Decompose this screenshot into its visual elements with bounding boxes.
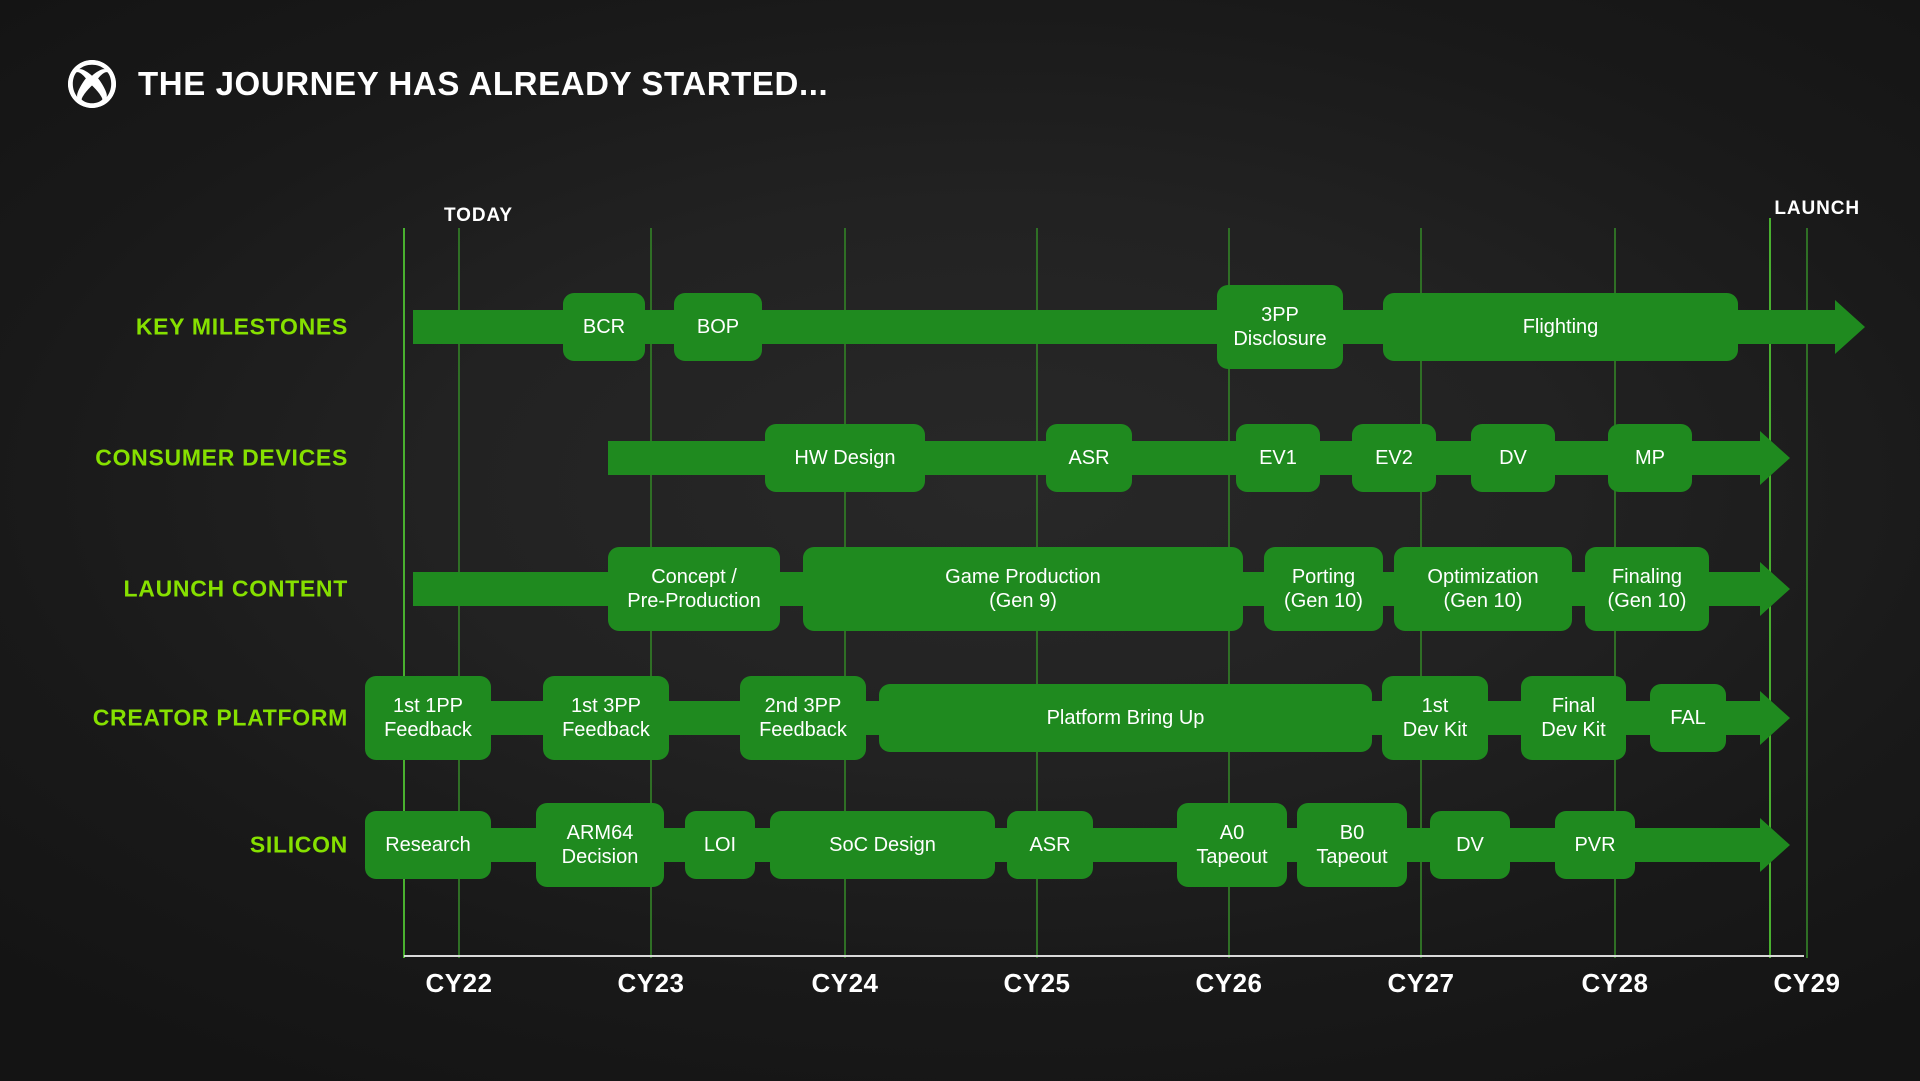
axis-tick-cy26: CY26 bbox=[1195, 968, 1262, 999]
timeline-bar[interactable]: 1st 3PP Feedback bbox=[543, 676, 669, 760]
row-label-launch-content: LAUNCH CONTENT bbox=[124, 576, 348, 603]
timeline-bar[interactable]: 1st Dev Kit bbox=[1382, 676, 1488, 760]
axis-tick-cy22: CY22 bbox=[425, 968, 492, 999]
timeline-bar[interactable]: Research bbox=[365, 811, 491, 879]
axis-tick-cy27: CY27 bbox=[1387, 968, 1454, 999]
row-arrow-creator-platform bbox=[1760, 691, 1790, 745]
timeline-bar[interactable]: HW Design bbox=[765, 424, 925, 492]
timeline-bar[interactable]: Finaling (Gen 10) bbox=[1585, 547, 1709, 631]
timeline-bar[interactable]: Optimization (Gen 10) bbox=[1394, 547, 1572, 631]
axis-tick-cy29: CY29 bbox=[1773, 968, 1840, 999]
timeline-bar[interactable]: Game Production (Gen 9) bbox=[803, 547, 1243, 631]
timeline-bar[interactable]: DV bbox=[1471, 424, 1555, 492]
timeline-bar[interactable]: A0 Tapeout bbox=[1177, 803, 1287, 887]
timeline-bar[interactable]: EV2 bbox=[1352, 424, 1436, 492]
axis-tick-cy25: CY25 bbox=[1003, 968, 1070, 999]
axis-tick-cy28: CY28 bbox=[1581, 968, 1648, 999]
timeline-bar[interactable]: PVR bbox=[1555, 811, 1635, 879]
timeline-bar[interactable]: BOP bbox=[674, 293, 762, 361]
row-arrow-consumer-devices bbox=[1760, 431, 1790, 485]
marker-label-launch: LAUNCH bbox=[1774, 198, 1860, 220]
row-label-key-milestones: KEY MILESTONES bbox=[136, 314, 348, 341]
marker-label-today: TODAY bbox=[444, 205, 513, 227]
timeline-bar[interactable]: ASR bbox=[1046, 424, 1132, 492]
timeline-bar[interactable]: BCR bbox=[563, 293, 645, 361]
timeline-bar[interactable]: SoC Design bbox=[770, 811, 995, 879]
timeline-bar[interactable]: MP bbox=[1608, 424, 1692, 492]
timeline-bar[interactable]: DV bbox=[1430, 811, 1510, 879]
timeline-bar[interactable]: 3PP Disclosure bbox=[1217, 285, 1343, 369]
timeline-bar[interactable]: Platform Bring Up bbox=[879, 684, 1372, 752]
row-label-consumer-devices: CONSUMER DEVICES bbox=[95, 445, 348, 472]
timeline-bar[interactable]: ARM64 Decision bbox=[536, 803, 664, 887]
row-arrow-key-milestones bbox=[1835, 300, 1865, 354]
timeline-bar[interactable]: B0 Tapeout bbox=[1297, 803, 1407, 887]
axis-tick-cy24: CY24 bbox=[811, 968, 878, 999]
timeline-bar[interactable]: Flighting bbox=[1383, 293, 1738, 361]
axis-tick-cy23: CY23 bbox=[617, 968, 684, 999]
row-label-silicon: SILICON bbox=[250, 832, 348, 859]
timeline-bar[interactable]: FAL bbox=[1650, 684, 1726, 752]
timeline-bar[interactable]: 1st 1PP Feedback bbox=[365, 676, 491, 760]
timeline-bar[interactable]: ASR bbox=[1007, 811, 1093, 879]
timeline-bar[interactable]: Final Dev Kit bbox=[1521, 676, 1626, 760]
slide-canvas: THE JOURNEY HAS ALREADY STARTED... TODAY… bbox=[0, 0, 1920, 1081]
timeline-bar[interactable]: 2nd 3PP Feedback bbox=[740, 676, 866, 760]
row-arrow-launch-content bbox=[1760, 562, 1790, 616]
timeline-bar[interactable]: LOI bbox=[685, 811, 755, 879]
row-label-creator-platform: CREATOR PLATFORM bbox=[93, 705, 348, 732]
timeline-bar[interactable]: Concept / Pre-Production bbox=[608, 547, 780, 631]
timeline-chart: TODAYLAUNCHCY22CY23CY24CY25CY26CY27CY28C… bbox=[0, 0, 1920, 1081]
timeline-bar[interactable]: EV1 bbox=[1236, 424, 1320, 492]
timeline-bar[interactable]: Porting (Gen 10) bbox=[1264, 547, 1383, 631]
row-arrow-silicon bbox=[1760, 818, 1790, 872]
axis-baseline bbox=[404, 955, 1804, 957]
